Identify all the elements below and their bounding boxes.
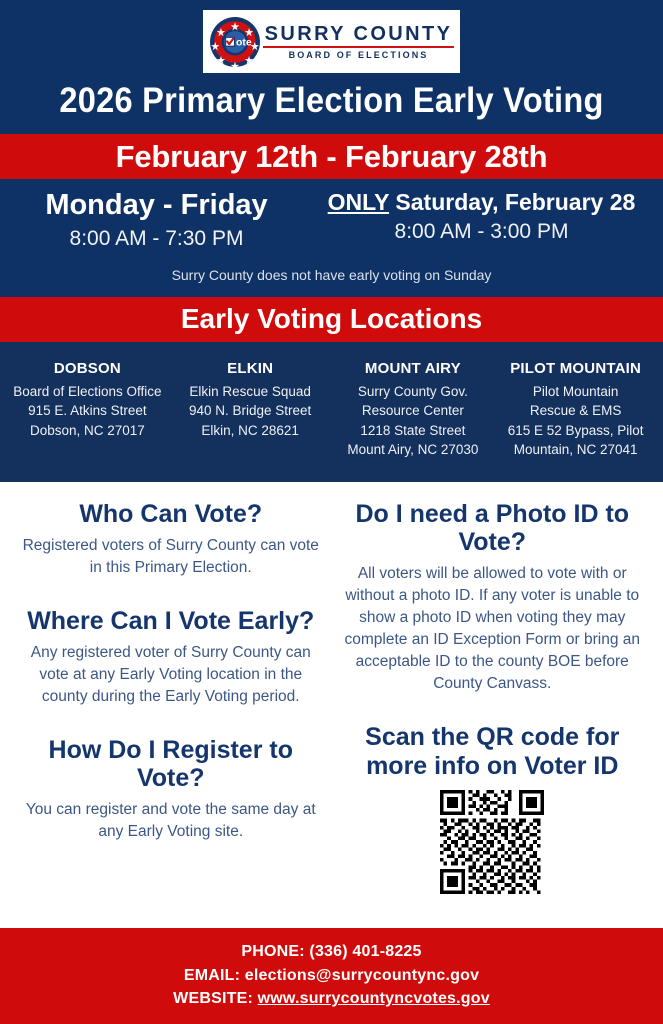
faq-question: Where Can I Vote Early? (18, 607, 324, 635)
weekday-label: Monday - Friday (7, 189, 307, 222)
logo-container: ote SURRY COUNTY BOARD OF ELECTIONS (0, 0, 663, 81)
faq-answer: Registered voters of Surry County can vo… (18, 535, 324, 579)
hours-section: Monday - Friday 8:00 AM - 7:30 PM ONLY S… (0, 179, 663, 297)
location-line: Board of Elections Office (8, 382, 167, 402)
location-line: 615 E 52 Bypass, Pilot (496, 421, 655, 441)
faq-column-right: Do I need a Photo ID to Vote? All voters… (332, 500, 654, 895)
faq-column-left: Who Can Vote? Registered voters of Surry… (10, 500, 332, 895)
date-range-text: February 12th - February 28th (116, 141, 548, 172)
location-name: MOUNT AIRY (334, 360, 493, 378)
saturday-date-text: Saturday, February 28 (389, 189, 635, 215)
location-line: 940 N. Bridge Street (171, 401, 330, 421)
hours-row: Monday - Friday 8:00 AM - 7:30 PM ONLY S… (0, 189, 663, 253)
qr-container (340, 790, 646, 894)
footer-contact: PHONE: (336) 401-8225 EMAIL: elections@s… (0, 928, 663, 1024)
saturday-only-emphasis: ONLY (328, 189, 389, 215)
logo-divider (263, 46, 454, 48)
locations-section: DOBSON Board of Elections Office 915 E. … (0, 342, 663, 482)
location-line: Elkin, NC 28621 (171, 421, 330, 441)
location-line: 915 E. Atkins Street (8, 401, 167, 421)
location-line: Rescue & EMS (496, 401, 655, 421)
early-voting-poster: ote SURRY COUNTY BOARD OF ELECTIONS 2026… (0, 0, 663, 1024)
weekday-time: 8:00 AM - 7:30 PM (7, 225, 307, 252)
logo-panel: ote SURRY COUNTY BOARD OF ELECTIONS (203, 10, 460, 73)
logo-line-1: SURRY COUNTY (265, 24, 453, 44)
faq-answer: You can register and vote the same day a… (18, 799, 324, 843)
footer-website-link[interactable]: www.surrycountyncvotes.gov (258, 990, 490, 1007)
faq-question: Who Can Vote? (18, 500, 324, 528)
location-name: PILOT MOUNTAIN (496, 360, 655, 378)
page-title: 2026 Primary Election Early Voting (23, 81, 640, 134)
vote-seal-icon: ote (209, 16, 261, 68)
faq-answer: Any registered voter of Surry County can… (18, 642, 324, 708)
location-line: Dobson, NC 27017 (8, 421, 167, 441)
faq-answer: All voters will be allowed to vote with … (340, 563, 646, 695)
location-line: Elkin Rescue Squad (171, 382, 330, 402)
svg-text:ote: ote (236, 37, 252, 48)
footer-website-row: WEBSITE: www.surrycountyncvotes.gov (0, 987, 663, 1010)
location-line: 1218 State Street (334, 421, 493, 441)
footer-email: EMAIL: elections@surrycountync.gov (0, 964, 663, 987)
saturday-hours: ONLY Saturday, February 28 8:00 AM - 3:0… (307, 189, 657, 246)
logo-line-2: BOARD OF ELECTIONS (289, 51, 429, 60)
header-section: ote SURRY COUNTY BOARD OF ELECTIONS 2026… (0, 0, 663, 134)
faq-section: Who Can Vote? Registered voters of Surry… (0, 482, 663, 901)
qr-heading: Scan the QR code for more info on Voter … (340, 723, 646, 781)
locations-banner-text: Early Voting Locations (181, 305, 482, 333)
location-line: Pilot Mountain (496, 382, 655, 402)
location-line: Mount Airy, NC 27030 (334, 440, 493, 460)
logo-wordmark: SURRY COUNTY BOARD OF ELECTIONS (261, 24, 454, 60)
location-name: DOBSON (8, 360, 167, 378)
sunday-note: Surry County does not have early voting … (0, 267, 663, 283)
location-name: ELKIN (171, 360, 330, 378)
location-line: Surry County Gov. (334, 382, 493, 402)
weekday-hours: Monday - Friday 8:00 AM - 7:30 PM (7, 189, 307, 253)
date-banner: February 12th - February 28th (0, 134, 663, 179)
location-pilot-mountain: PILOT MOUNTAIN Pilot Mountain Rescue & E… (494, 360, 657, 460)
faq-question: How Do I Register to Vote? (18, 736, 324, 792)
locations-banner: Early Voting Locations (0, 297, 663, 342)
saturday-time: 8:00 AM - 3:00 PM (307, 218, 657, 245)
location-mount-airy: MOUNT AIRY Surry County Gov. Resource Ce… (332, 360, 495, 460)
footer-phone: PHONE: (336) 401-8225 (0, 940, 663, 963)
footer-website-label: WEBSITE: (173, 990, 257, 1007)
location-elkin: ELKIN Elkin Rescue Squad 940 N. Bridge S… (169, 360, 332, 460)
saturday-label: ONLY Saturday, February 28 (307, 189, 657, 215)
location-line: Mountain, NC 27041 (496, 440, 655, 460)
location-dobson: DOBSON Board of Elections Office 915 E. … (6, 360, 169, 460)
faq-question: Do I need a Photo ID to Vote? (340, 500, 646, 556)
qr-code-icon[interactable] (440, 790, 544, 894)
location-line: Resource Center (334, 401, 493, 421)
